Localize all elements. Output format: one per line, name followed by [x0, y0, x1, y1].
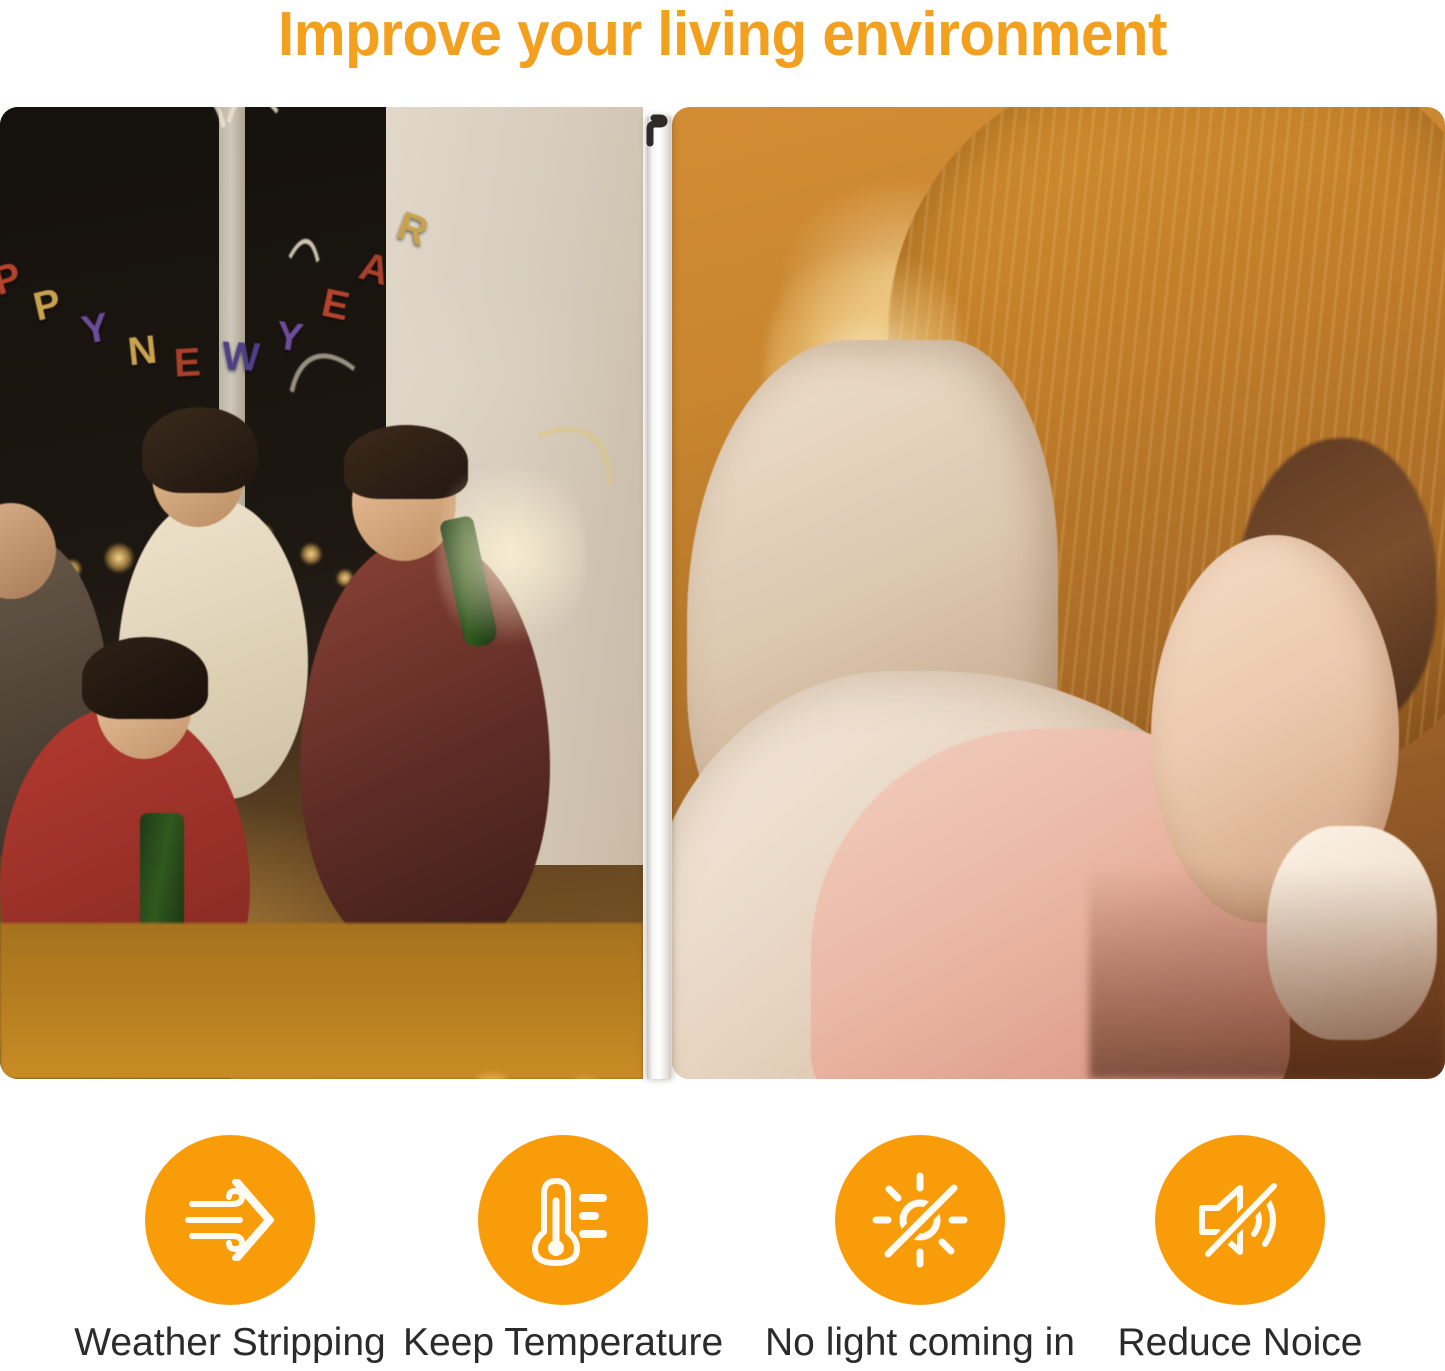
feature-weather-stripping[interactable]: Weather Stripping: [60, 1135, 400, 1367]
sleeping-child-photo: [672, 107, 1445, 1079]
feature-keep-temperature[interactable]: Keep Temperature: [403, 1135, 723, 1367]
feature-icon-circle: [1155, 1135, 1325, 1305]
sun-off-icon: [868, 1168, 972, 1272]
door-frame-seal: [641, 107, 675, 1079]
feature-reduce-noise[interactable]: Reduce Noice: [1090, 1135, 1390, 1367]
feature-icon-circle: [478, 1135, 648, 1305]
feature-label: Keep Temperature: [403, 1319, 723, 1367]
party-table: [0, 923, 643, 1079]
wind-arrow-icon: [178, 1168, 282, 1272]
speaker-mute-icon: [1188, 1168, 1292, 1272]
feature-label: Reduce Noice: [1090, 1319, 1390, 1367]
party-scene: P P Y N E W Y E A R: [0, 107, 643, 1079]
hero-image-band: P P Y N E W Y E A R: [0, 107, 1445, 1079]
infographic-page: Improve your living environment P P Y N …: [0, 0, 1445, 1371]
rubber-seal-strip: [643, 113, 673, 151]
thermometer-icon: [511, 1168, 615, 1272]
white-door-frame: [647, 117, 671, 1079]
bedroom-scene: [672, 107, 1445, 1079]
page-title: Improve your living environment: [43, 0, 1401, 74]
scene-shadow: [1089, 865, 1445, 1079]
feature-row: Weather Stripping: [0, 1135, 1445, 1371]
feature-icon-circle: [835, 1135, 1005, 1305]
feature-no-light[interactable]: No light coming in: [760, 1135, 1080, 1367]
feature-label: Weather Stripping: [60, 1319, 400, 1367]
feature-label: No light coming in: [760, 1319, 1080, 1367]
party-photo: P P Y N E W Y E A R: [0, 107, 643, 1079]
feature-icon-circle: [145, 1135, 315, 1305]
